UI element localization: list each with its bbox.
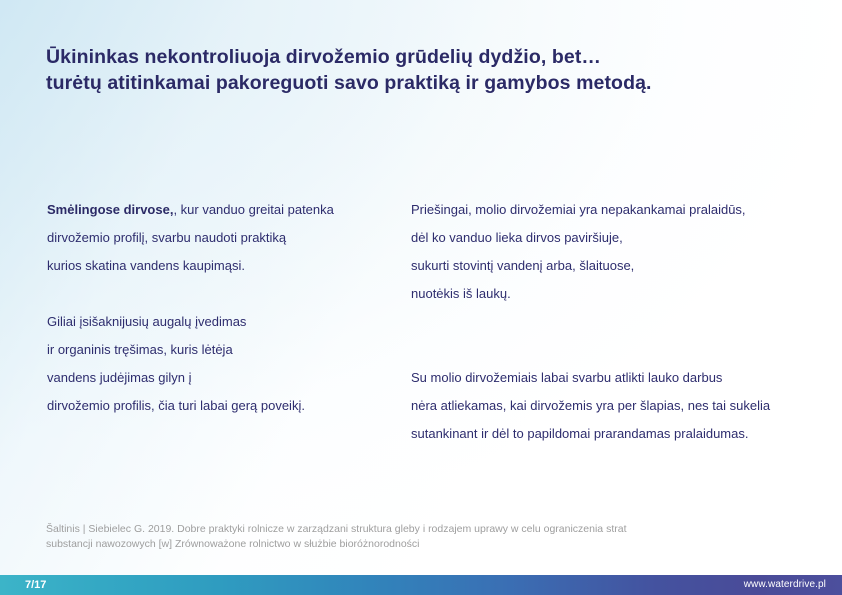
left-paragraph-1: Smėlingose dirvose,, kur vanduo greitai … bbox=[47, 196, 392, 280]
left-p1-line-1: Smėlingose dirvose,, kur vanduo greitai … bbox=[47, 196, 392, 224]
slide-canvas: Ūkininkas nekontroliuoja dirvožemio grūd… bbox=[0, 0, 842, 595]
left-p1-line-2: dirvožemio profilį, svarbu naudoti prakt… bbox=[47, 224, 392, 252]
title-line-2: turėtų atitinkamai pakoreguoti savo prak… bbox=[46, 70, 786, 96]
source-line-1: Šaltinis | Siebielec G. 2019. Dobre prak… bbox=[46, 522, 746, 537]
left-paragraph-2: Giliai įsišaknijusių augalų įvedimas ir … bbox=[47, 308, 392, 420]
source-line-2: substancji nawozowych [w] Zrównoważone r… bbox=[46, 537, 746, 552]
page-number: 7/17 bbox=[25, 575, 46, 595]
right-p2-line-1: Su molio dirvožemiais labai svarbu atlik… bbox=[411, 364, 811, 392]
left-p2-line-4: dirvožemio profilis, čia turi labai gerą… bbox=[47, 392, 392, 420]
left-text-column: Smėlingose dirvose,, kur vanduo greitai … bbox=[47, 196, 392, 420]
left-p1-line-1-rest: , kur vanduo greitai patenka bbox=[173, 202, 333, 217]
right-paragraph-1: Priešingai, molio dirvožemiai yra nepaka… bbox=[411, 196, 811, 308]
source-citation: Šaltinis | Siebielec G. 2019. Dobre prak… bbox=[46, 522, 746, 552]
page-title: Ūkininkas nekontroliuoja dirvožemio grūd… bbox=[46, 44, 786, 96]
title-line-1: Ūkininkas nekontroliuoja dirvožemio grūd… bbox=[46, 44, 786, 70]
right-p1-line-3: sukurti stovintį vandenį arba, šlaituose… bbox=[411, 252, 811, 280]
left-p2-line-1: Giliai įsišaknijusių augalų įvedimas bbox=[47, 308, 392, 336]
body-content: Smėlingose dirvose,, kur vanduo greitai … bbox=[0, 196, 842, 426]
left-p1-line-3: kurios skatina vandens kaupimąsi. bbox=[47, 252, 392, 280]
left-p2-line-2: ir organinis tręšimas, kuris lėtėja bbox=[47, 336, 392, 364]
right-paragraph-2: Su molio dirvožemiais labai svarbu atlik… bbox=[411, 364, 811, 448]
left-p1-lead: Smėlingose dirvose, bbox=[47, 202, 173, 217]
site-url[interactable]: www.waterdrive.pl bbox=[744, 575, 826, 595]
right-p1-line-1: Priešingai, molio dirvožemiai yra nepaka… bbox=[411, 196, 811, 224]
right-p2-line-2: nėra atliekamas, kai dirvožemis yra per … bbox=[411, 392, 811, 420]
right-p1-line-4: nuotėkis iš laukų. bbox=[411, 280, 811, 308]
footer-bar: 7/17 www.waterdrive.pl bbox=[0, 575, 842, 595]
right-p2-line-3: sutankinant ir dėl to papildomai prarand… bbox=[411, 420, 811, 448]
right-p1-line-2: dėl ko vanduo lieka dirvos paviršiuje, bbox=[411, 224, 811, 252]
left-p2-line-3: vandens judėjimas gilyn į bbox=[47, 364, 392, 392]
right-text-column: Priešingai, molio dirvožemiai yra nepaka… bbox=[411, 196, 811, 448]
